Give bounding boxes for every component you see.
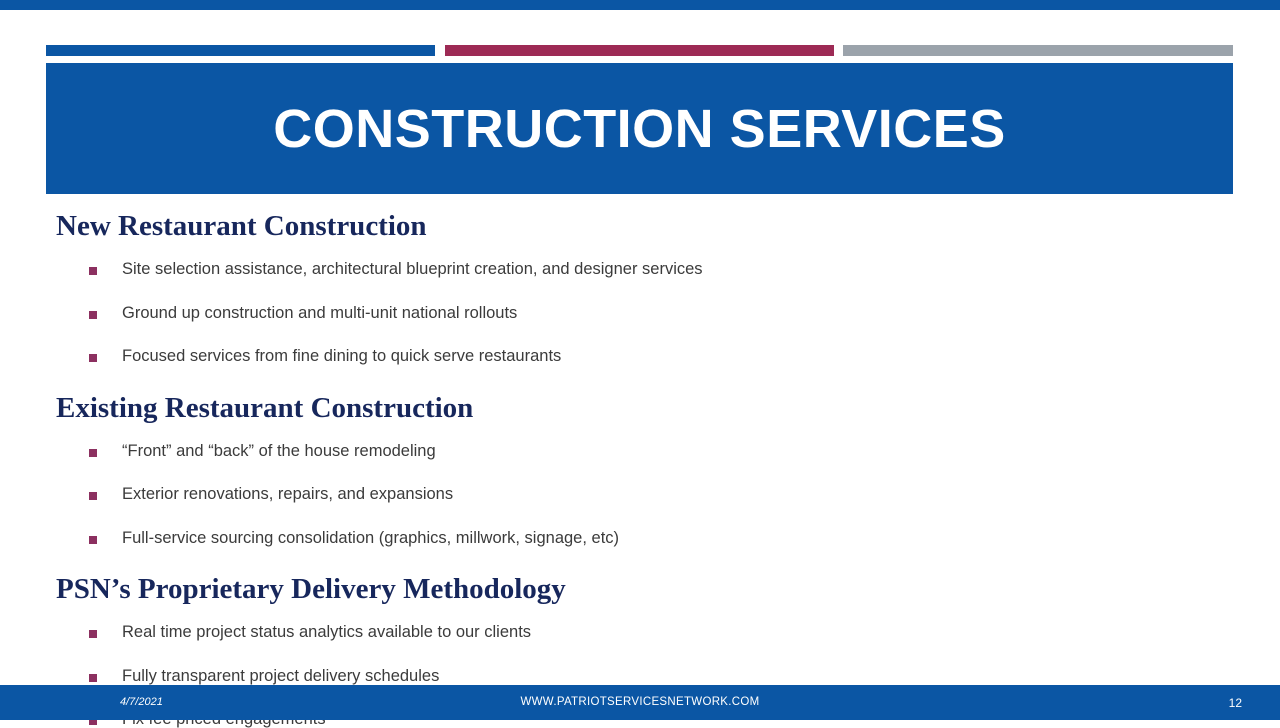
list-item-label: Exterior renovations, repairs, and expan… bbox=[122, 485, 453, 503]
list-item-label: Focused services from fine dining to qui… bbox=[122, 347, 561, 365]
bullet-list: “Front” and “back” of the house remodeli… bbox=[0, 443, 1280, 547]
list-item: Focused services from fine dining to qui… bbox=[0, 348, 1280, 365]
list-item: “Front” and “back” of the house remodeli… bbox=[0, 443, 1280, 460]
list-item: Fully transparent project delivery sched… bbox=[0, 668, 1280, 685]
list-item: Ground up construction and multi-unit na… bbox=[0, 305, 1280, 322]
square-bullet-icon bbox=[89, 492, 97, 500]
bullet-list: Site selection assistance, architectural… bbox=[0, 261, 1280, 365]
section-heading: Existing Restaurant Construction bbox=[0, 394, 1280, 423]
list-item-label: Full-service sourcing consolidation (gra… bbox=[122, 529, 619, 547]
gray-accent-bar bbox=[843, 45, 1233, 56]
section-existing-restaurant-construction: Existing Restaurant Construction “Front”… bbox=[0, 394, 1280, 547]
square-bullet-icon bbox=[89, 354, 97, 362]
slide-number: 12 bbox=[1229, 696, 1242, 710]
slide-body: New Restaurant Construction Site selecti… bbox=[0, 200, 1280, 728]
square-bullet-icon bbox=[89, 630, 97, 638]
blue-accent-bar bbox=[46, 45, 435, 56]
list-item-label: Ground up construction and multi-unit na… bbox=[122, 304, 517, 322]
section-new-restaurant-construction: New Restaurant Construction Site selecti… bbox=[0, 212, 1280, 365]
list-item-label: “Front” and “back” of the house remodeli… bbox=[122, 442, 436, 460]
square-bullet-icon bbox=[89, 267, 97, 275]
list-item: Full-service sourcing consolidation (gra… bbox=[0, 530, 1280, 547]
square-bullet-icon bbox=[89, 449, 97, 457]
footer-website-url: WWW.PATRIOTSERVICESNETWORK.COM bbox=[0, 696, 1280, 708]
accent-bar-row bbox=[46, 45, 1233, 56]
title-banner: CONSTRUCTION SERVICES bbox=[46, 63, 1233, 194]
square-bullet-icon bbox=[89, 536, 97, 544]
square-bullet-icon bbox=[89, 311, 97, 319]
slide-footer: 4/7/2021 WWW.PATRIOTSERVICESNETWORK.COM … bbox=[0, 685, 1280, 720]
list-item: Site selection assistance, architectural… bbox=[0, 261, 1280, 278]
list-item-label: Real time project status analytics avail… bbox=[122, 623, 531, 641]
square-bullet-icon bbox=[89, 674, 97, 682]
slide-title: CONSTRUCTION SERVICES bbox=[273, 102, 1006, 156]
top-accent-strip bbox=[0, 0, 1280, 10]
section-heading: PSN’s Proprietary Delivery Methodology bbox=[0, 575, 1280, 604]
list-item-label: Site selection assistance, architectural… bbox=[122, 260, 703, 278]
list-item-label: Fully transparent project delivery sched… bbox=[122, 667, 439, 685]
section-heading: New Restaurant Construction bbox=[0, 212, 1280, 241]
red-accent-bar bbox=[445, 45, 834, 56]
list-item: Exterior renovations, repairs, and expan… bbox=[0, 486, 1280, 503]
list-item: Real time project status analytics avail… bbox=[0, 624, 1280, 641]
